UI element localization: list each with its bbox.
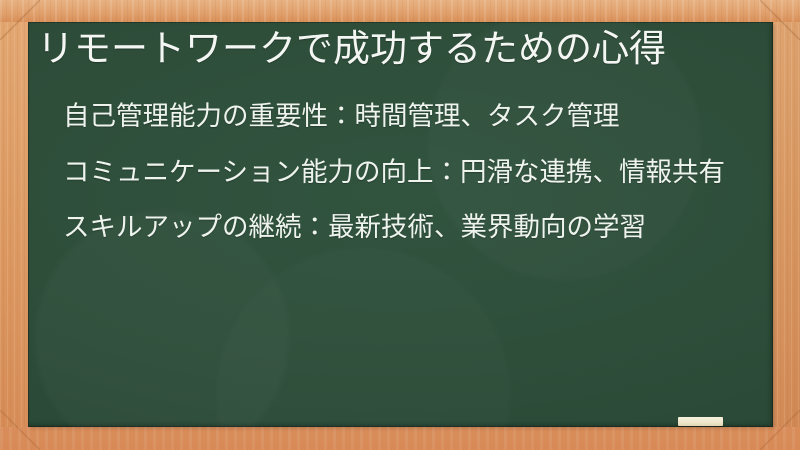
chalkboard-surface: リモートワークで成功するための心得 自己管理能力の重要性：時間管理、タスク管理 …: [28, 22, 773, 427]
slide-bullet-item: スキルアップの継続：最新技術、業界動向の学習: [37, 209, 765, 247]
slide-bullet-list: 自己管理能力の重要性：時間管理、タスク管理 コミュニケーション能力の向上：円滑な…: [37, 98, 765, 247]
blackboard-slide: リモートワークで成功するための心得 自己管理能力の重要性：時間管理、タスク管理 …: [0, 0, 800, 450]
frame-bottom-rail: [0, 427, 800, 450]
chalk-stick-icon: [678, 417, 723, 426]
slide-bullet-item: コミュニケーション能力の向上：円滑な連携、情報共有: [37, 154, 765, 192]
slide-title: リモートワークで成功するための心得: [37, 27, 763, 71]
frame-top-rail: [0, 0, 800, 22]
slide-bullet-item: 自己管理能力の重要性：時間管理、タスク管理: [37, 98, 765, 136]
